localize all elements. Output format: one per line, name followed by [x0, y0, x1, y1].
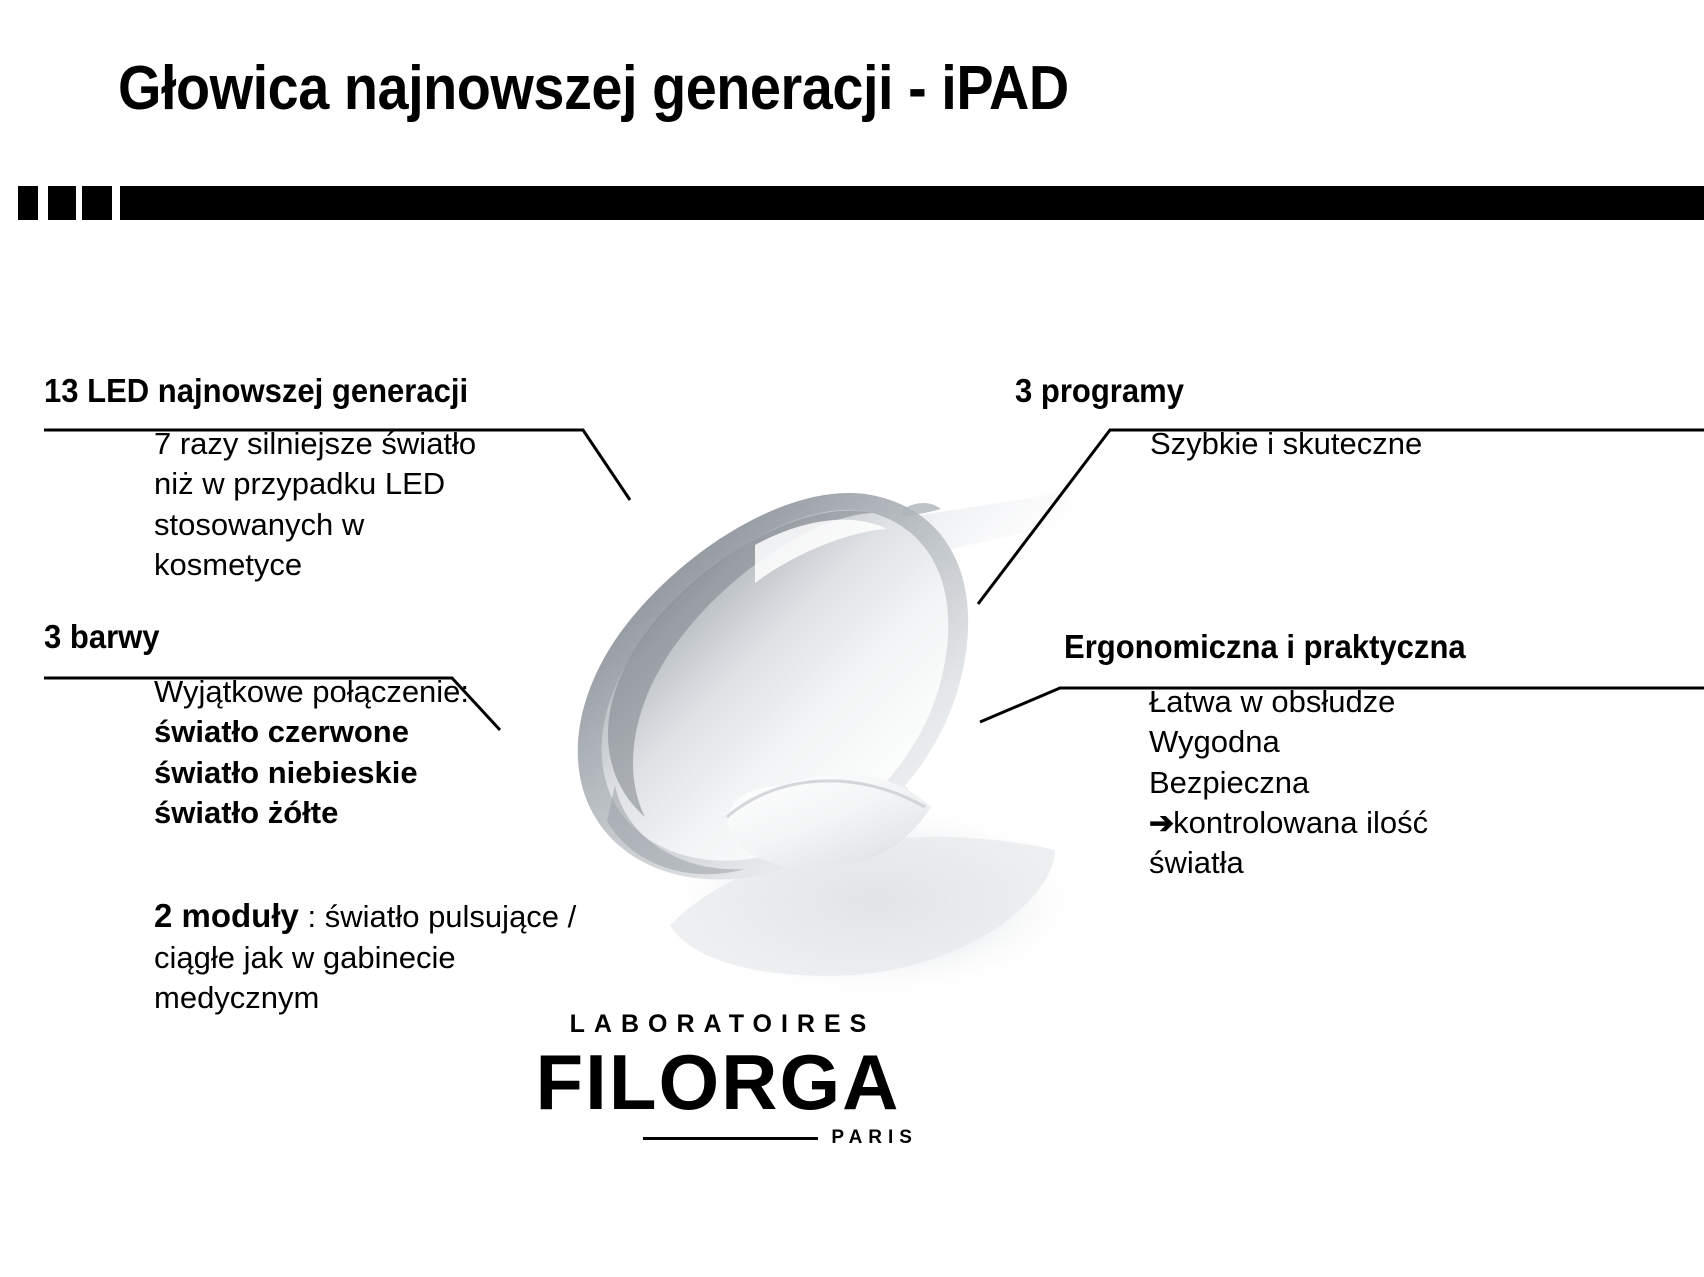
callout-ergo-arrow-text: kontrolowana ilość	[1173, 805, 1428, 840]
callout-led-body: 7 razy silniejsze światło niż w przypadk…	[154, 424, 554, 585]
logo-brand: FILORGA	[518, 1043, 918, 1121]
callout-barwy: 3 barwy Wyjątkowe połączenie: światło cz…	[44, 618, 574, 833]
callout-ergo-arrow-line-2: światła	[1149, 843, 1549, 883]
callout-programy: 3 programy Szybkie i skuteczne	[1015, 372, 1550, 464]
callout-moduly-first-line: 2 moduły : światło pulsujące /	[154, 895, 584, 938]
callout-led-line-1: 7 razy silniejsze światło	[154, 424, 554, 464]
callout-led: 13 LED najnowszej generacji 7 razy silni…	[44, 372, 554, 585]
callout-ergo-line-3: Bezpieczna	[1149, 763, 1549, 803]
callout-moduly: 2 moduły : światło pulsujące / ciągłe ja…	[154, 895, 584, 1018]
callout-ergo-line-2: Wygodna	[1149, 722, 1549, 762]
callout-led-line-4: kosmetyce	[154, 545, 554, 585]
page-title: Głowica najnowszej generacji - iPAD	[118, 56, 1069, 121]
deco-block-1	[18, 186, 38, 220]
callout-moduly-lead: 2 moduły	[154, 897, 299, 934]
callout-barwy-color-1: światło czerwone	[154, 712, 574, 752]
title-decoration-bar	[0, 186, 1704, 220]
callout-led-line-2: niż w przypadku LED	[154, 464, 554, 504]
callout-barwy-intro: Wyjątkowe połączenie:	[154, 672, 574, 712]
callout-moduly-line-2: ciągłe jak w gabinecie	[154, 938, 584, 978]
slide-canvas: Głowica najnowszej generacji - iPAD	[0, 0, 1704, 1277]
deco-block-2	[48, 186, 76, 220]
callout-ergo: Ergonomiczna i praktyczna Łatwa w obsłud…	[1064, 628, 1549, 883]
callout-barwy-body: Wyjątkowe połączenie: światło czerwone ś…	[154, 672, 574, 833]
right-arrow-icon: ➔	[1149, 807, 1173, 840]
callout-programy-heading: 3 programy	[1015, 372, 1518, 410]
callout-led-line-3: stosowanych w	[154, 505, 554, 545]
callout-ergo-body: Łatwa w obsłudze Wygodna Bezpieczna ➔kon…	[1149, 682, 1549, 883]
callout-programy-line-1: Szybkie i skuteczne	[1150, 424, 1550, 464]
logo-city: PARIS	[829, 1127, 918, 1149]
logo-laboratoires: LABORATOIRES	[518, 1010, 918, 1039]
callout-moduly-rest: : światło pulsujące /	[299, 899, 576, 934]
callout-led-heading: 13 LED najnowszej generacji	[44, 372, 523, 410]
callout-ergo-heading: Ergonomiczna i praktyczna	[1064, 628, 1520, 666]
callout-programy-body: Szybkie i skuteczne	[1150, 424, 1550, 464]
filorga-logo: LABORATOIRES FILORGA PARIS	[518, 1010, 918, 1149]
logo-footer: PARIS	[518, 1127, 918, 1149]
callout-barwy-color-2: światło niebieskie	[154, 753, 574, 793]
callout-barwy-heading: 3 barwy	[44, 618, 542, 656]
callout-ergo-arrow-line: ➔kontrolowana ilość	[1149, 803, 1549, 843]
deco-block-3	[82, 186, 112, 220]
callout-ergo-line-1: Łatwa w obsłudze	[1149, 682, 1549, 722]
logo-divider-rule	[643, 1137, 818, 1140]
deco-bar-long	[120, 186, 1704, 220]
callout-barwy-color-3: światło żółte	[154, 793, 574, 833]
